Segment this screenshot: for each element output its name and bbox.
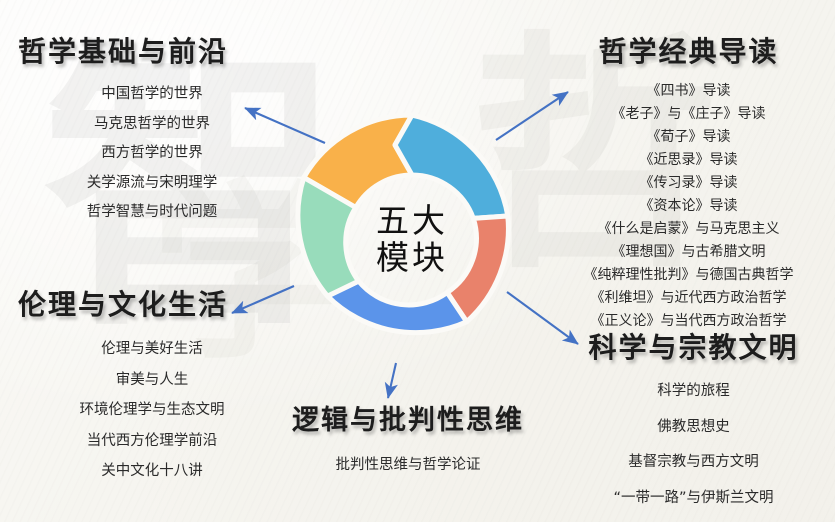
module-block-logic: 逻辑与批判性思维 批判性思维与哲学论证 bbox=[268, 398, 548, 473]
list-item: 关学源流与宋明理学 bbox=[18, 176, 286, 191]
list-item: 关中文化十八讲 bbox=[18, 464, 286, 479]
list-item: 《资本论》导读 bbox=[546, 199, 831, 213]
list-item: 《利维坦》与近代西方政治哲学 bbox=[546, 291, 831, 305]
module-title-foundations: 哲学基础与前沿 bbox=[18, 30, 286, 70]
list-item: 西方哲学的世界 bbox=[18, 146, 286, 161]
module-block-classics: 哲学经典导读 《四书》导读 《老子》与《庄子》导读 《荀子》导读 《近思录》导读… bbox=[546, 30, 831, 337]
list-item: 《老子》与《庄子》导读 bbox=[546, 107, 831, 121]
list-item: 马克思哲学的世界 bbox=[18, 117, 286, 132]
list-item: 《纯粹理性批判》与德国古典哲学 bbox=[546, 268, 831, 282]
list-item: 审美与人生 bbox=[18, 373, 286, 388]
list-item: 《四书》导读 bbox=[546, 84, 831, 98]
list-item: 《近思录》导读 bbox=[546, 153, 831, 167]
arrow-to-logic bbox=[388, 363, 396, 398]
module-title-classics: 哲学经典导读 bbox=[546, 30, 831, 70]
list-item: “一带一路”与伊斯兰文明 bbox=[552, 491, 835, 506]
wheel-royalblue-segment[interactable] bbox=[328, 281, 467, 333]
module-course-list-logic: 批判性思维与哲学论证 bbox=[268, 458, 548, 473]
list-item: 批判性思维与哲学论证 bbox=[268, 458, 548, 473]
module-course-list-ethics: 伦理与美好生活 审美与人生 环境伦理学与生态文明 当代西方伦理学前沿 关中文化十… bbox=[18, 342, 286, 479]
list-item: 《什么是启蒙》与马克思主义 bbox=[546, 222, 831, 236]
module-title-ethics: 伦理与文化生活 bbox=[18, 283, 286, 323]
module-title-science: 科学与宗教文明 bbox=[552, 326, 835, 366]
list-item: 《理想国》与古希腊文明 bbox=[546, 245, 831, 259]
list-item: 佛教思想史 bbox=[552, 420, 835, 435]
list-item: 中国哲学的世界 bbox=[18, 87, 286, 102]
module-course-list-science: 科学的旅程 佛教思想史 基督宗教与西方文明 “一带一路”与伊斯兰文明 bbox=[552, 384, 835, 505]
list-item: 基督宗教与西方文明 bbox=[552, 455, 835, 470]
module-course-list-classics: 《四书》导读 《老子》与《庄子》导读 《荀子》导读 《近思录》导读 《传习录》导… bbox=[546, 84, 831, 328]
wheel-skyblue-segment[interactable] bbox=[395, 115, 508, 218]
module-course-list-foundations: 中国哲学的世界 马克思哲学的世界 西方哲学的世界 关学源流与宋明理学 哲学智慧与… bbox=[18, 87, 286, 220]
module-block-ethics: 伦理与文化生活 伦理与美好生活 审美与人生 环境伦理学与生态文明 当代西方伦理学… bbox=[18, 283, 286, 495]
module-block-foundations: 哲学基础与前沿 中国哲学的世界 马克思哲学的世界 西方哲学的世界 关学源流与宋明… bbox=[18, 30, 286, 235]
five-modules-wheel: 五大 模块 bbox=[287, 115, 537, 365]
infographic-canvas: 智 哲 学 bbox=[0, 0, 835, 522]
list-item: 当代西方伦理学前沿 bbox=[18, 434, 286, 449]
module-block-science: 科学与宗教文明 科学的旅程 佛教思想史 基督宗教与西方文明 “一带一路”与伊斯兰… bbox=[552, 326, 835, 522]
list-item: 《荀子》导读 bbox=[546, 130, 831, 144]
list-item: 哲学智慧与时代问题 bbox=[18, 205, 286, 220]
module-title-logic: 逻辑与批判性思维 bbox=[268, 398, 548, 437]
list-item: 环境伦理学与生态文明 bbox=[18, 403, 286, 418]
list-item: 伦理与美好生活 bbox=[18, 342, 286, 357]
list-item: 《传习录》导读 bbox=[546, 176, 831, 190]
list-item: 科学的旅程 bbox=[552, 384, 835, 399]
